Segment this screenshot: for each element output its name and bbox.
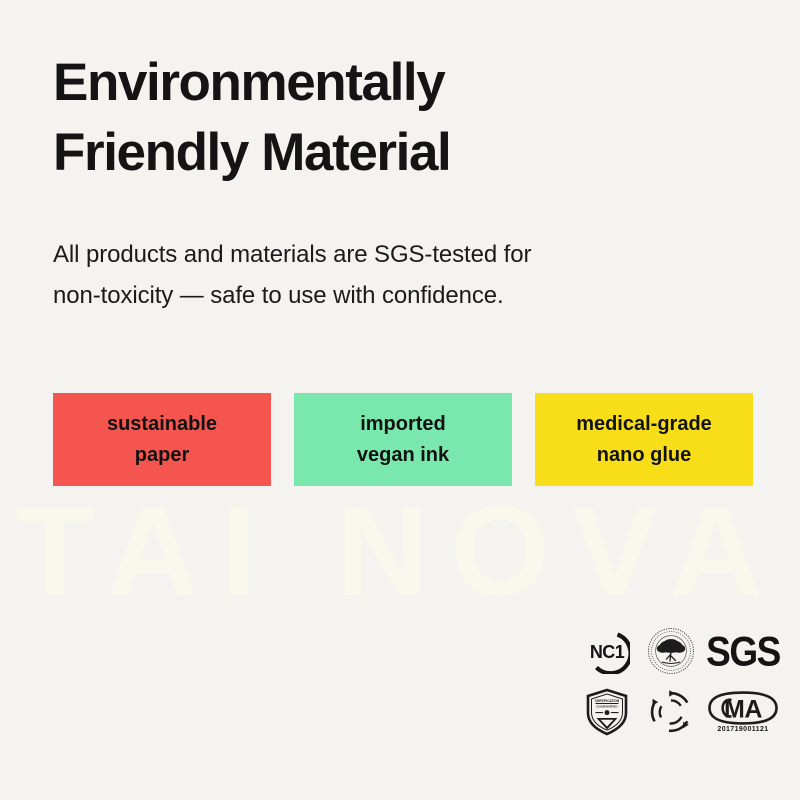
page-subtitle: All products and materials are SGS-teste… — [53, 234, 673, 317]
material-chip-medical-grade-nano-glue: medical-grade nano glue — [535, 393, 753, 486]
certification-badge-shield: CERTIFICATION GUARANTEED — [575, 682, 639, 742]
poster-canvas: TAI NOVA Environmentally Friendly Materi… — [0, 0, 800, 800]
material-chip-row: sustainable paper imported vegan ink med… — [53, 393, 753, 486]
certification-badge-cma: MA 201719001121 — [703, 682, 783, 742]
svg-text:CERTIFICATION: CERTIFICATION — [595, 699, 620, 703]
page-title-line-2: Friendly Material — [53, 118, 713, 188]
material-chip-label-line-2: nano glue — [597, 440, 691, 470]
cma-certificate-number: 201719001121 — [717, 726, 768, 733]
certification-badge-sgs: SGS — [703, 620, 783, 682]
shield-icon: CERTIFICATION GUARANTEED — [585, 688, 629, 736]
brand-watermark: TAI NOVA — [0, 488, 800, 616]
certification-badge-nc1: NC1 — [575, 620, 639, 682]
material-chip-sustainable-paper: sustainable paper — [53, 393, 271, 486]
tree-seal-icon — [646, 626, 696, 676]
recycle-icon — [648, 689, 694, 735]
material-chip-label-line-2: paper — [135, 440, 189, 470]
certification-badge-forest-seal — [639, 620, 703, 682]
page-subtitle-line-1: All products and materials are SGS-teste… — [53, 234, 673, 275]
page-subtitle-line-2: non-toxicity — safe to use with confiden… — [53, 275, 673, 316]
material-chip-label-line-1: sustainable — [107, 409, 217, 439]
material-chip-label-line-1: imported — [360, 409, 446, 439]
svg-text:GUARANTEED: GUARANTEED — [596, 704, 618, 708]
page-title-line-1: Environmentally — [53, 48, 713, 118]
sgs-logo-text: SGS — [706, 630, 780, 671]
material-chip-imported-vegan-ink: imported vegan ink — [294, 393, 512, 486]
page-title: Environmentally Friendly Material — [53, 48, 713, 189]
nc1-icon: NC1 — [584, 628, 630, 674]
material-chip-label-line-1: medical-grade — [576, 409, 712, 439]
cma-icon: MA — [707, 691, 779, 725]
certification-badge-recycle — [639, 682, 703, 742]
svg-text:NC1: NC1 — [590, 642, 625, 662]
material-chip-label-line-2: vegan ink — [357, 440, 449, 470]
certification-badge-grid: NC1 SGS — [575, 620, 783, 742]
